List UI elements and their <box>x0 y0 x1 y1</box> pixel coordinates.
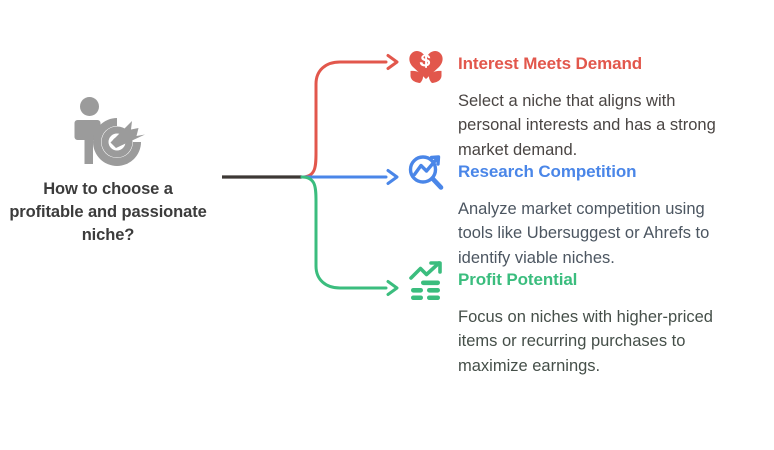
branch-research-competition: Research Competition Analyze market comp… <box>406 152 766 270</box>
arrowhead-green <box>388 282 397 295</box>
connector-red <box>302 62 386 177</box>
branch-interest-meets-demand: Interest Meets Demand Select a niche tha… <box>406 44 766 162</box>
branch-header: Research Competition <box>406 152 766 192</box>
person-target-icon <box>69 96 147 166</box>
branch-description: Analyze market competition using tools l… <box>458 197 740 270</box>
arrowhead-blue <box>388 171 397 184</box>
heart-dollar-icon <box>406 44 446 84</box>
branch-title: Interest Meets Demand <box>458 44 642 74</box>
growth-bars-icon <box>406 260 446 300</box>
branch-title: Profit Potential <box>458 260 577 290</box>
branch-description: Select a niche that aligns with personal… <box>458 89 740 162</box>
diagram-canvas: How to choose a profitable and passionat… <box>0 0 774 450</box>
arrowhead-red <box>388 56 397 69</box>
connector-green <box>302 177 386 288</box>
root-label: How to choose a profitable and passionat… <box>8 178 208 246</box>
branch-title: Research Competition <box>458 152 636 182</box>
magnifier-trend-icon <box>406 152 446 192</box>
root-node: How to choose a profitable and passionat… <box>8 96 208 246</box>
branch-profit-potential: Profit Potential Focus on niches with hi… <box>406 260 766 378</box>
branch-description: Focus on niches with higher-priced items… <box>458 305 740 378</box>
branch-header: Interest Meets Demand <box>406 44 766 84</box>
branch-header: Profit Potential <box>406 260 766 300</box>
